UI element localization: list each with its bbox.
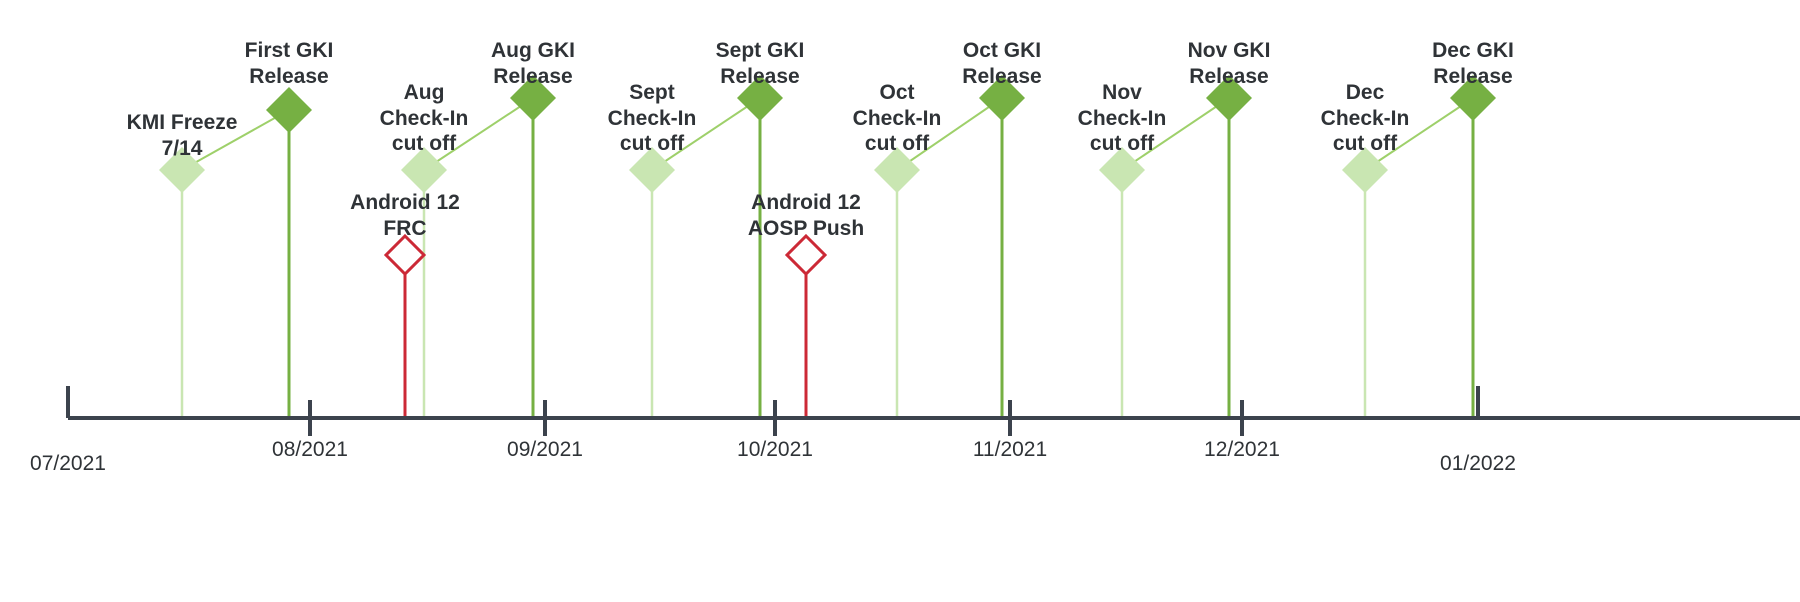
- axis-tick-label: 09/2021: [455, 438, 635, 462]
- axis-tick-label: 10/2021: [685, 438, 865, 462]
- event-label-kmi-freeze: KMI Freeze 7/14: [92, 110, 272, 161]
- event-label-aug-checkin: Aug Check-In cut off: [349, 80, 499, 157]
- event-label-dec-checkin: Dec Check-In cut off: [1290, 80, 1440, 157]
- timeline-figure: KMI Freeze 7/14First GKI ReleaseAug Chec…: [0, 0, 1800, 602]
- axis-tick-label: 08/2021: [220, 438, 400, 462]
- event-label-android12-frc: Android 12 FRC: [300, 190, 510, 241]
- release-marker-first-gki-release[interactable]: [266, 87, 312, 133]
- axis-tick-label: 11/2021: [920, 438, 1100, 462]
- axis-tick-label: 12/2021: [1152, 438, 1332, 462]
- axis-group: [68, 386, 1800, 436]
- android-milestone-marker-android12-frc[interactable]: [386, 236, 424, 274]
- event-label-android12-aosp-push: Android 12 AOSP Push: [696, 190, 916, 241]
- event-label-dec-gki-release: Dec GKI Release: [1383, 38, 1563, 89]
- android-milestone-marker-android12-aosp-push[interactable]: [787, 236, 825, 274]
- event-label-oct-checkin: Oct Check-In cut off: [822, 80, 972, 157]
- event-label-sept-checkin: Sept Check-In cut off: [577, 80, 727, 157]
- axis-tick-label: 01/2022: [1388, 452, 1568, 476]
- event-label-nov-checkin: Nov Check-In cut off: [1047, 80, 1197, 157]
- axis-tick-label: 07/2021: [0, 452, 158, 476]
